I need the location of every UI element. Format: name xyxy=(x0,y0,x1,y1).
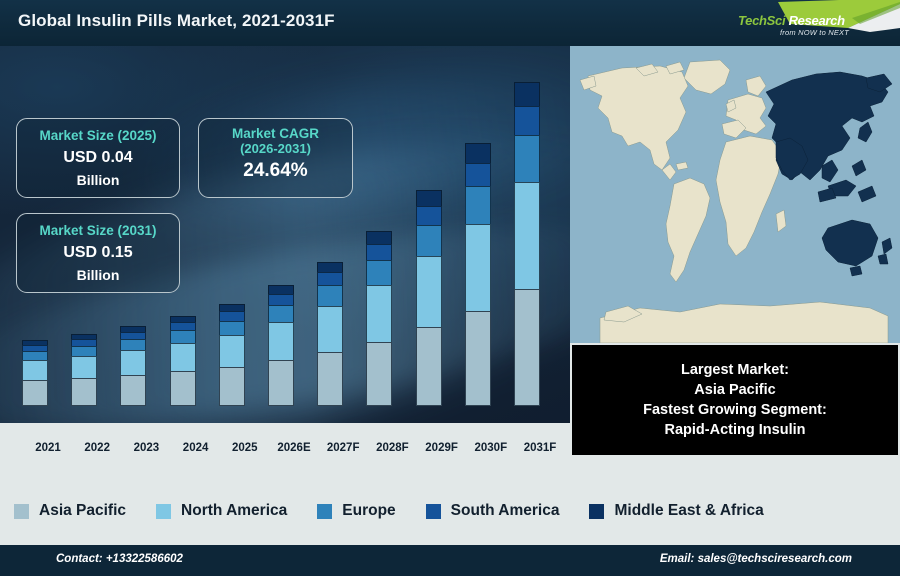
stat-card-title: Market Size (2025) xyxy=(17,128,179,143)
legend-swatch-icon xyxy=(156,504,171,519)
stat-card-market-size-2025: Market Size (2025) USD 0.04 Billion xyxy=(16,118,180,198)
legend-swatch-icon xyxy=(317,504,332,519)
infographic-root: Global Insulin Pills Market, 2021-2031F … xyxy=(0,0,900,576)
callout-line-4: Rapid-Acting Insulin xyxy=(572,420,898,440)
stat-card-market-cagr: Market CAGR (2026-2031) 24.64% xyxy=(198,118,353,198)
map-antarctica xyxy=(600,302,888,343)
legend-item-north-america[interactable]: North America xyxy=(156,502,287,520)
footer-bar: Contact: +13322586602 Email: sales@techs… xyxy=(0,545,900,576)
legend-swatch-icon xyxy=(589,504,604,519)
legend-swatch-icon xyxy=(426,504,441,519)
legend-item-europe[interactable]: Europe xyxy=(317,502,395,520)
techsci-logo[interactable]: TechSci Research from NOW to NEXT xyxy=(720,0,900,46)
stat-card-value: USD 0.04 xyxy=(17,149,179,167)
legend-label: Asia Pacific xyxy=(39,502,126,520)
legend-item-asia-pacific[interactable]: Asia Pacific xyxy=(14,502,126,520)
header-bar: Global Insulin Pills Market, 2021-2031F … xyxy=(0,0,900,46)
page-title: Global Insulin Pills Market, 2021-2031F xyxy=(18,11,335,31)
logo-research-text: Research xyxy=(789,13,845,28)
logo-tagline: from NOW to NEXT xyxy=(780,28,849,37)
logo-wordmark: TechSci Research xyxy=(738,13,845,28)
footer-email[interactable]: Email: sales@techsciresearch.com xyxy=(660,553,852,565)
chart-panel: 202120222023202420252026E2027F2028F2029F… xyxy=(0,46,570,455)
legend-item-south-america[interactable]: South America xyxy=(426,502,560,520)
logo-tech-text: TechSci xyxy=(738,13,785,28)
callout-line-2: Asia Pacific xyxy=(572,380,898,400)
x-axis-label-2031F: 2031F xyxy=(510,442,570,454)
legend-label: Middle East & Africa xyxy=(614,502,763,520)
legend-label: North America xyxy=(181,502,287,520)
callout-line-3: Fastest Growing Segment: xyxy=(572,400,898,420)
chart-legend: Asia PacificNorth AmericaEuropeSouth Ame… xyxy=(0,489,900,533)
legend-item-middle-east-africa[interactable]: Middle East & Africa xyxy=(589,502,763,520)
stat-card-value: USD 0.15 xyxy=(17,244,179,262)
world-map-svg xyxy=(570,46,900,343)
callout-line-1: Largest Market: xyxy=(572,360,898,380)
callout-box: Largest Market: Asia Pacific Fastest Gro… xyxy=(572,345,898,455)
stat-card-unit: Billion xyxy=(17,267,179,283)
stat-card-unit: Billion xyxy=(17,172,179,188)
stat-card-title: Market CAGR xyxy=(199,126,352,141)
world-map xyxy=(570,46,900,343)
legend-label: Europe xyxy=(342,502,395,520)
stat-card-market-size-2031: Market Size (2031) USD 0.15 Billion xyxy=(16,213,180,293)
stat-card-title: Market Size (2031) xyxy=(17,223,179,238)
stat-card-subtitle: (2026-2031) xyxy=(199,141,352,156)
stat-card-value: 24.64% xyxy=(199,160,352,182)
legend-label: South America xyxy=(451,502,560,520)
legend-swatch-icon xyxy=(14,504,29,519)
footer-contact[interactable]: Contact: +13322586602 xyxy=(56,553,183,565)
